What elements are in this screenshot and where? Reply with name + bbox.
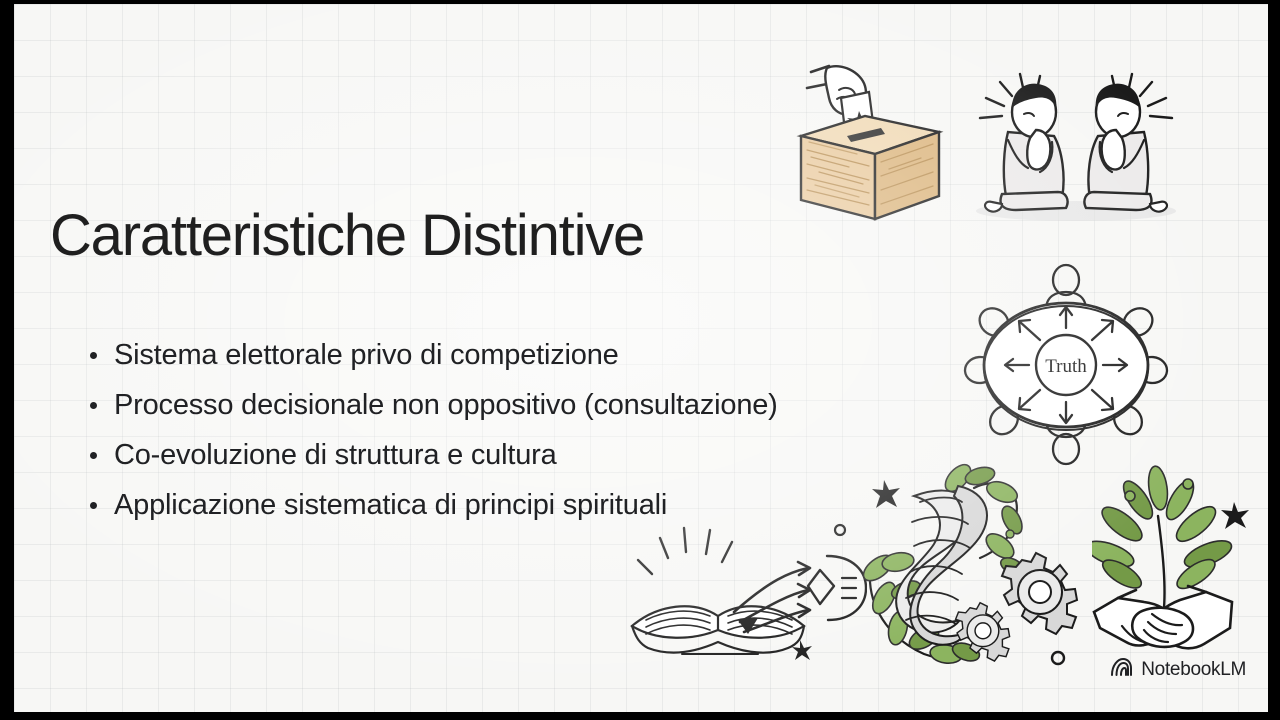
list-item: Co-evoluzione di struttura e cultura [76,430,778,480]
letterbox-bottom [0,712,1280,720]
list-item: Processo decisionale non oppositivo (con… [76,380,778,430]
page-title: Caratteristiche Distintive [50,202,644,269]
letterbox-right [1268,0,1280,720]
list-item: Applicazione sistematica di principi spi… [76,480,778,530]
slide-stage: Truth [0,0,1280,720]
letterbox-left [0,0,14,720]
ballot-box-illustration [789,54,949,229]
consultation-circle-illustration: Truth [946,262,1186,467]
notebooklm-branding: NotebookLM [1110,657,1246,682]
list-item: Sistema elettorale privo di competizione [76,330,778,380]
slide-canvas: Truth [14,4,1268,712]
handshake-plant-illustration [1092,462,1268,662]
dna-gears-illustration [862,462,1087,677]
consultation-center-label: Truth [1045,356,1087,377]
notebooklm-label: NotebookLM [1141,659,1246,681]
open-book-light-illustration [622,516,867,661]
notebooklm-spiral-icon [1110,657,1132,682]
bullet-list: Sistema elettorale privo di competizione… [76,330,778,530]
letterbox-top [0,0,1280,4]
praying-figures-illustration [962,56,1190,226]
